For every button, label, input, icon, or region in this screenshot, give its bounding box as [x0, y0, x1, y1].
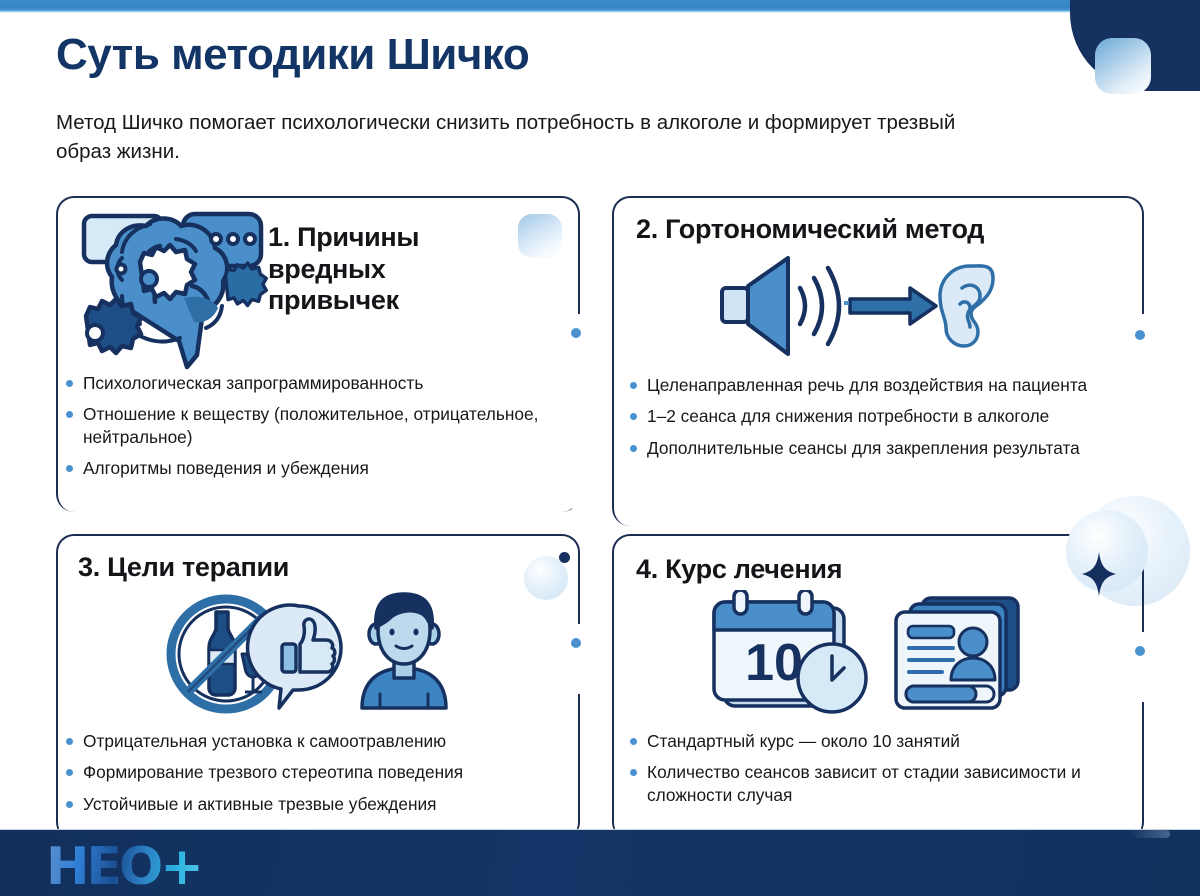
- brand-logo: НЕО+: [46, 837, 201, 896]
- card-bullet-list: Стандартный курс — около 10 занятий Коли…: [628, 730, 1134, 815]
- card-gortonomic-method: 2. Гортономический метод: [612, 196, 1144, 526]
- card-accent-dot: [1135, 330, 1145, 340]
- list-item: Дополнительные сеансы для закрепления ре…: [628, 437, 1130, 459]
- footer-bar: НЕО+: [0, 830, 1200, 896]
- card-heading: 1. Причины вредных привычек: [268, 222, 498, 317]
- card-heading: 2. Гортономический метод: [636, 214, 1136, 246]
- card-border-gap: [572, 314, 580, 514]
- list-item: Целенаправленная речь для воздействия на…: [628, 374, 1130, 396]
- list-item: Формирование трезвого стереотипа поведен…: [64, 761, 570, 783]
- card-causes: 1. Причины вредных привычек Психологичес…: [56, 196, 580, 512]
- list-item: Психологическая запрограммированность: [64, 372, 570, 394]
- no-alcohol-thumbs-up-person-icon: [166, 592, 466, 722]
- card-heading: 4. Курс лечения: [636, 554, 1036, 586]
- card-accent-dot: [1135, 646, 1145, 656]
- card-gradient-square: [518, 214, 562, 258]
- page-subtitle: Метод Шичко помогает психологически сниз…: [56, 108, 996, 166]
- list-item: Отношение к веществу (положительное, отр…: [64, 403, 570, 448]
- calendar-day-number: 10: [745, 634, 803, 692]
- card-border-gap: [572, 624, 580, 694]
- card-accent-dot: [571, 328, 581, 338]
- card-bullet-list: Отрицательная установка к самоотравлению…: [64, 730, 570, 824]
- list-item: 1–2 сеанса для снижения потребности в ал…: [628, 405, 1130, 427]
- card-bullet-list: Целенаправленная речь для воздействия на…: [628, 374, 1130, 468]
- card-border-gap: [1136, 632, 1144, 702]
- card-heading: 3. Цели терапии: [78, 552, 478, 584]
- list-item: Количество сеансов зависит от стадии зав…: [628, 761, 1134, 806]
- page-title: Суть методики Шичко: [56, 32, 529, 78]
- top-accent-bar: [0, 0, 1200, 11]
- list-item: Алгоритмы поведения и убеждения: [64, 457, 570, 479]
- brain-gears-speech-bubbles-icon: [72, 206, 272, 376]
- card-accent-dot: [571, 638, 581, 648]
- card-glow-circle: [524, 556, 568, 600]
- list-item: Отрицательная установка к самоотравлению: [64, 730, 570, 752]
- footer-accent: [1130, 830, 1170, 838]
- calendar-clock-id-cards-icon: 10: [698, 590, 1028, 723]
- sparkle-icon: [1082, 552, 1116, 601]
- list-item: Устойчивые и активные трезвые убеждения: [64, 793, 570, 815]
- infographic-page: Суть методики Шичко Метод Шичко помогает…: [0, 0, 1200, 896]
- speaker-arrow-ear-icon: [712, 254, 1012, 365]
- card-bullet-list: Психологическая запрограммированность От…: [64, 372, 570, 489]
- corner-gradient-square: [1095, 38, 1151, 94]
- list-item: Стандартный курс — около 10 занятий: [628, 730, 1134, 752]
- top-accent-shine: [0, 11, 1160, 13]
- card-treatment-course: 4. Курс лечения 10: [612, 534, 1144, 840]
- card-therapy-goals: 3. Цели терапии: [56, 534, 580, 840]
- card-navy-dot: [559, 552, 570, 563]
